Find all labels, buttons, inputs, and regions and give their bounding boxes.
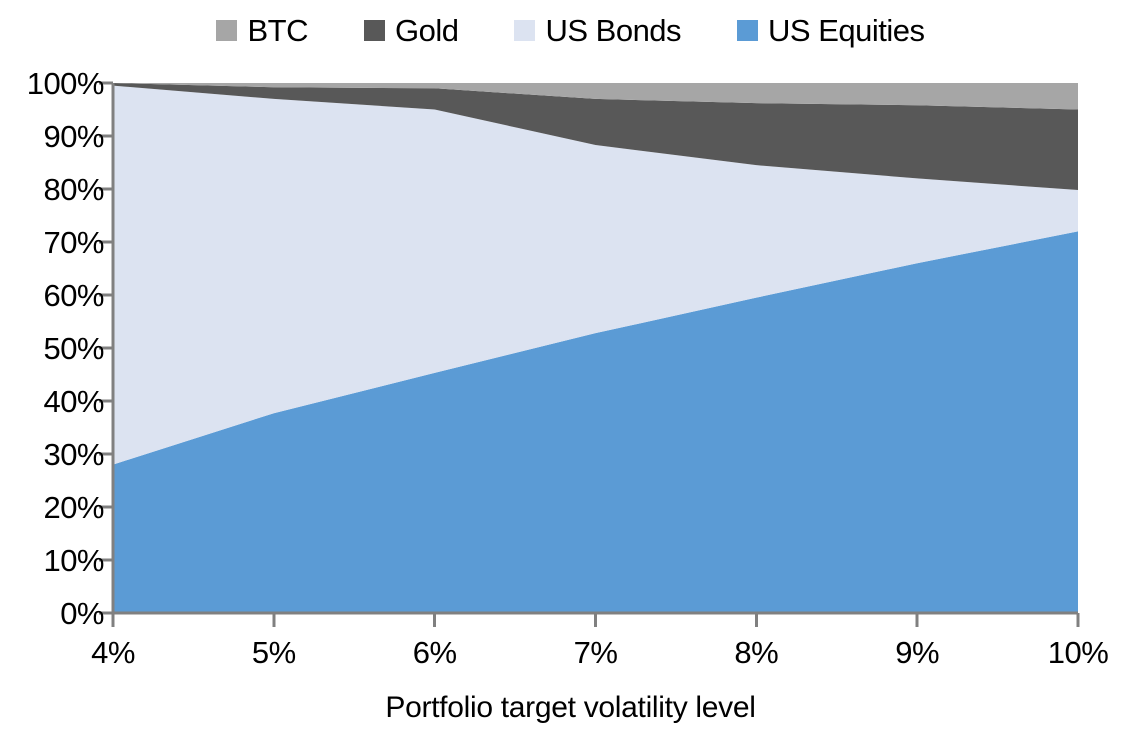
x-tick-label-8: 8% (734, 637, 778, 668)
x-tick-label-5: 5% (252, 637, 296, 668)
x-tick-label-6: 6% (413, 637, 457, 668)
x-axis-labels: 4%5%6%7%8%9%10% (0, 0, 1141, 742)
x-tick-label-9: 9% (895, 637, 939, 668)
x-tick-label-7: 7% (574, 637, 618, 668)
stacked-area-chart: BTC Gold US Bonds US Equities 100%90%80%… (0, 0, 1141, 742)
x-tick-label-4: 4% (91, 637, 135, 668)
x-tick-label-10: 10% (1048, 637, 1109, 668)
x-axis-title: Portfolio target volatility level (0, 692, 1141, 724)
